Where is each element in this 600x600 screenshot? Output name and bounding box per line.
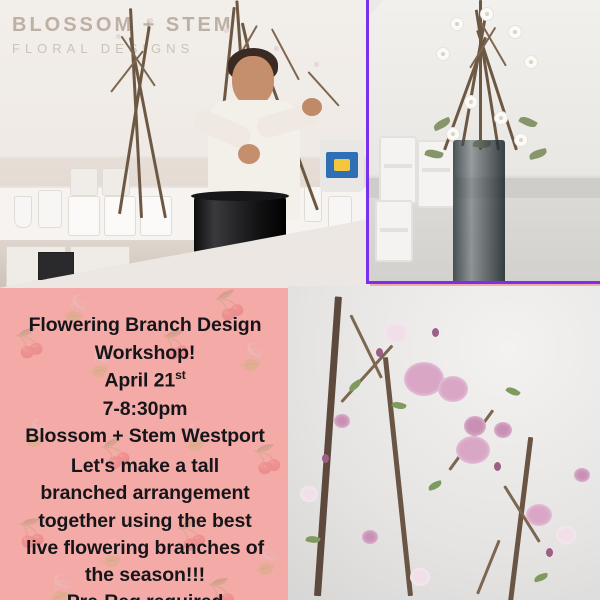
- glass-vase: [328, 196, 352, 228]
- votive-candle: [70, 168, 98, 196]
- cherry-blossom: [464, 416, 486, 436]
- flower-bud: [322, 454, 329, 463]
- shelf-cubby: [70, 246, 130, 288]
- cherry-blossom: [574, 468, 590, 482]
- white-flower: [525, 56, 537, 68]
- cherry-blossom: [384, 322, 408, 344]
- bud: [148, 18, 153, 23]
- photo-blossom-branch: [288, 286, 600, 600]
- foliage-leaf: [518, 114, 538, 130]
- white-flower: [465, 96, 477, 108]
- cherry-blossom: [410, 568, 430, 586]
- flower-bud: [494, 462, 501, 471]
- cherry-blossom: [494, 422, 512, 438]
- face: [232, 56, 274, 106]
- event-date: April 21st: [0, 367, 290, 395]
- headline-line1: Flowering Branch Design: [0, 312, 290, 340]
- poster-canvas: 🍒 🍃 🍒 🍃 🍃 🍒 🍃 🍒 🍒 🍃 🍒 🍃 🍃 🍒 🍃 🍒 BLOSSOM …: [0, 0, 600, 600]
- event-date-text: April 21: [104, 370, 175, 392]
- registration-note: Pre-Reg required: [0, 589, 290, 600]
- foliage-leaf: [528, 148, 547, 160]
- bud: [224, 28, 229, 33]
- description-line-3: together using the best: [0, 508, 290, 535]
- white-flower: [509, 26, 521, 38]
- glass-vase: [38, 190, 62, 228]
- ceramic-vase: [140, 196, 172, 236]
- white-flower: [481, 8, 493, 20]
- description-line-2: branched arrangement: [0, 480, 290, 507]
- white-flower: [447, 128, 459, 140]
- headline-line2: Workshop!: [0, 340, 290, 368]
- flower-bud: [432, 328, 439, 337]
- chair: [379, 136, 417, 204]
- white-flower: [515, 134, 527, 146]
- shelf-black-box: [38, 252, 74, 280]
- cherry-blossom: [556, 526, 576, 544]
- left-hand: [238, 144, 260, 164]
- supply-bucket: [320, 140, 364, 192]
- description-line-1: Let's make a tall: [0, 453, 290, 480]
- poster-text-block: Flowering Branch Design Workshop! April …: [0, 312, 290, 600]
- event-date-ordinal: st: [175, 368, 186, 382]
- bud: [116, 34, 121, 39]
- cherry-blossom: [526, 504, 552, 526]
- flower-bud: [546, 548, 553, 557]
- white-flower: [437, 48, 449, 60]
- description-line-4: live flowering branches of: [0, 535, 290, 562]
- white-flower: [451, 18, 463, 30]
- white-flower: [495, 112, 507, 124]
- glass-vase: [453, 140, 505, 281]
- shelf-cubby: [298, 246, 364, 288]
- right-hand: [302, 98, 322, 116]
- event-time: 7-8:30pm: [0, 396, 290, 424]
- cherry-blossom: [456, 436, 490, 464]
- glass-vase: [14, 196, 32, 228]
- black-vase: [194, 196, 286, 278]
- ceramic-vase: [68, 196, 100, 236]
- event-location: Blossom + Stem Westport: [0, 423, 290, 451]
- cherry-blossom: [438, 376, 468, 402]
- flower-bud: [376, 348, 383, 357]
- description-line-5: the season!!!: [0, 562, 290, 589]
- cherry-blossom: [362, 530, 378, 544]
- cherry-blossom: [300, 486, 318, 502]
- event-description: Let's make a tall branched arrangement t…: [0, 453, 290, 600]
- chair: [375, 200, 413, 262]
- cherry-blossom: [334, 414, 350, 428]
- photo-host: BLOSSOM + STEM FLORAL DESIGNS: [0, 0, 370, 288]
- photo-vase-arrangement: [366, 0, 600, 284]
